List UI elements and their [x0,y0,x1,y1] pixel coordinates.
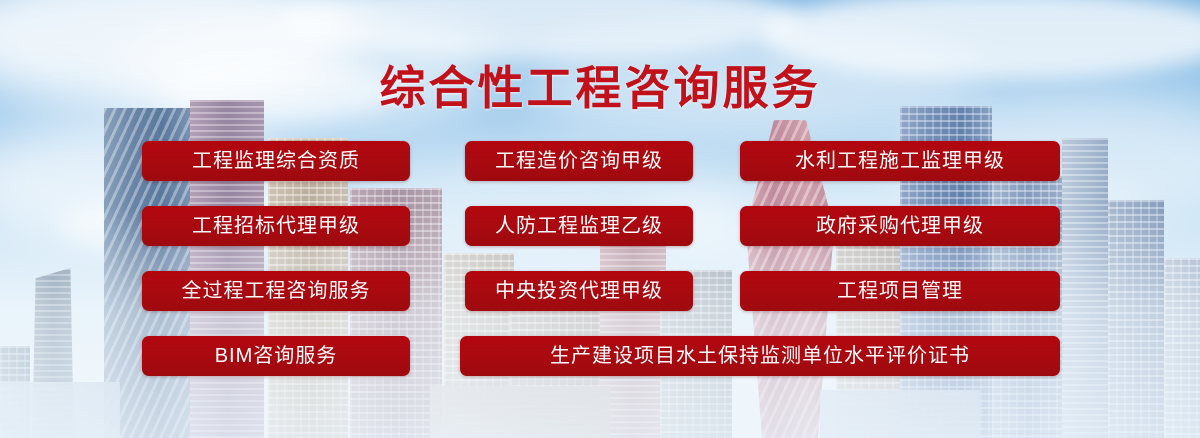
qualification-pill[interactable]: 工程招标代理甲级 [142,206,410,246]
qualification-pill[interactable]: 工程监理综合资质 [142,141,410,181]
page-title: 综合性工程咨询服务 [0,52,1200,118]
qualification-pill[interactable]: 工程项目管理 [740,271,1060,311]
qualification-pill[interactable]: 中央投资代理甲级 [465,271,693,311]
qualification-pill[interactable]: 工程造价咨询甲级 [465,141,693,181]
qualification-pill[interactable]: 全过程工程咨询服务 [142,271,410,311]
qualification-pill[interactable]: BIM咨询服务 [142,336,410,376]
qualification-row: BIM咨询服务 生产建设项目水土保持监测单位水平评价证书 [0,336,1200,401]
qualification-pill-wide[interactable]: 生产建设项目水土保持监测单位水平评价证书 [460,336,1060,376]
qualification-row: 工程监理综合资质 工程造价咨询甲级 水利工程施工监理甲级 [0,141,1200,206]
engineering-consulting-banner: 综合性工程咨询服务 工程监理综合资质 工程造价咨询甲级 水利工程施工监理甲级 工… [0,0,1200,438]
qualification-row: 工程招标代理甲级 人防工程监理乙级 政府采购代理甲级 [0,206,1200,271]
qualification-pill[interactable]: 政府采购代理甲级 [740,206,1060,246]
qualification-pill[interactable]: 水利工程施工监理甲级 [740,141,1060,181]
qualification-grid: 工程监理综合资质 工程造价咨询甲级 水利工程施工监理甲级 工程招标代理甲级 人防… [0,141,1200,401]
qualification-pill[interactable]: 人防工程监理乙级 [465,206,693,246]
qualification-row: 全过程工程咨询服务 中央投资代理甲级 工程项目管理 [0,271,1200,336]
